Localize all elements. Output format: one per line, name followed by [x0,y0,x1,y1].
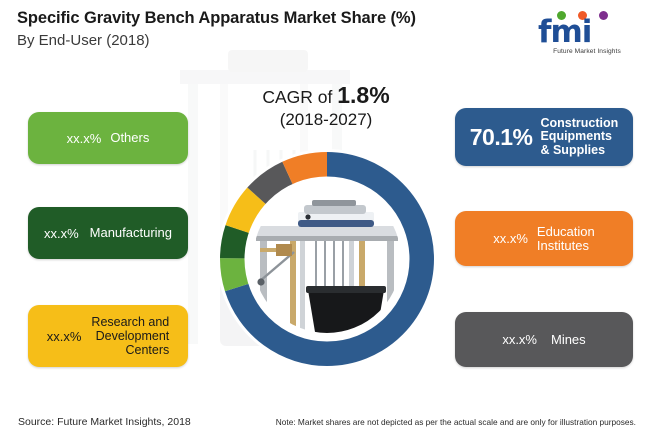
header: Specific Gravity Bench Apparatus Market … [0,0,650,64]
legend-item-research-development-centers[interactable]: xx.x% Research and Development Centers [28,305,188,367]
cagr-value-line: CAGR of 1.8% [232,82,420,109]
legend-label-line: Institutes [537,238,589,253]
logo-dot-purple-icon [599,11,608,20]
page-subtitle: By End-User (2018) [17,32,150,49]
legend-label-line: Research and [91,315,169,329]
logo-tagline: Future Market Insights [538,48,636,55]
legend-item-education-institutes[interactable]: xx.x% Education Institutes [455,211,633,266]
source-text: Source: Future Market Insights, 2018 [18,416,191,428]
cagr-period: (2018-2027) [232,110,420,130]
legend-item-manufacturing[interactable]: xx.x% Manufacturing [28,207,188,259]
legend-item-construction[interactable]: 70.1% Construction Equipments & Supplies [455,108,633,166]
legend-label-line: Development [96,329,170,343]
infographic-page: Specific Gravity Bench Apparatus Market … [0,0,650,440]
legend-label-line: & Supplies [540,143,605,157]
legend-item-mines[interactable]: xx.x% Mines [455,312,633,367]
cagr-value: 1.8% [337,82,389,108]
legend-label-research-development-centers: Research and Development Centers [91,315,169,357]
page-title: Specific Gravity Bench Apparatus Market … [17,9,416,28]
legend-value-education-institutes: xx.x% [493,231,528,246]
cagr-callout: CAGR of 1.8% (2018-2027) [232,82,420,130]
fmi-logo[interactable]: fmi Future Market Insights [538,9,636,57]
legend-label-education-institutes: Education Institutes [537,225,595,253]
legend-label-others: Others [110,131,149,145]
legend-label-manufacturing: Manufacturing [90,226,172,240]
legend-label-line: Construction [540,116,618,130]
legend-value-construction: 70.1% [470,124,533,151]
legend-label-line: Equipments [540,129,612,143]
legend-value-manufacturing: xx.x% [44,226,79,241]
donut-chart [216,148,438,370]
logo-wordmark: fmi [538,17,591,47]
legend-value-others: xx.x% [67,131,102,146]
legend-item-others[interactable]: xx.x% Others [28,112,188,164]
cagr-prefix: CAGR of [262,87,337,107]
note-text: Note: Market shares are not depicted as … [276,417,636,427]
legend-label-mines: Mines [551,333,586,347]
legend-label-construction: Construction Equipments & Supplies [540,117,618,158]
legend-label-line: Education [537,224,595,239]
legend-value-research-development-centers: xx.x% [47,329,82,344]
legend-value-mines: xx.x% [502,332,537,347]
legend-label-line: Centers [125,343,169,357]
